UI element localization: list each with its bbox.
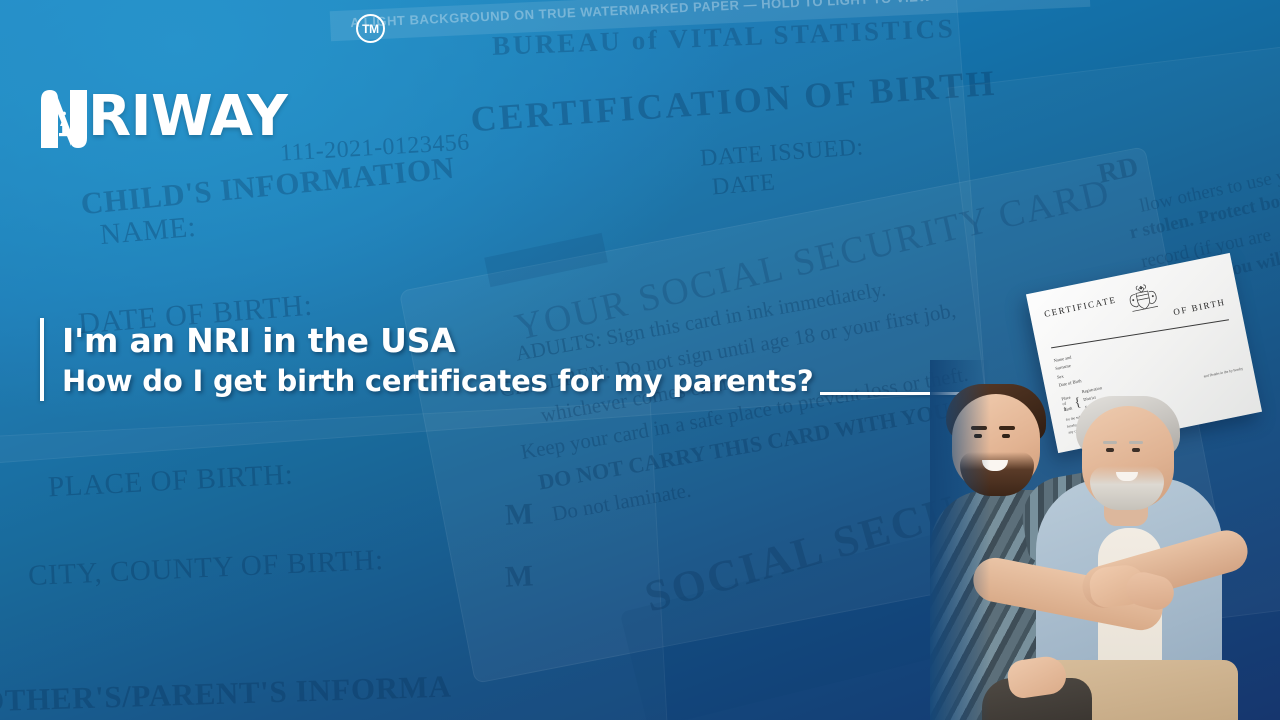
doc-date-issued: DATE ISSUED: (699, 134, 864, 172)
doc-right-text-1: RD (1095, 151, 1141, 191)
doc-m-mark-2: M (504, 559, 535, 594)
doc-m-mark-1: M (504, 497, 535, 532)
ssc-line-5: DO NOT CARRY THIS CARD WITH YOU. (514, 389, 977, 503)
doc-right-text-2: llow others to use your (1138, 160, 1280, 218)
headline-line-2: How do I get birth certificates for my p… (62, 361, 814, 401)
younger-man-eye-right (1002, 434, 1010, 438)
hero-headline: I'm an NRI in the USA How do I get birth… (40, 318, 970, 401)
doc-social-security-large: SOCIAL SECU (639, 484, 964, 622)
ssc-line-6: Do not laminate. (520, 423, 982, 536)
younger-man-brow-right (999, 426, 1015, 430)
headline-text-block: I'm an NRI in the USA How do I get birth… (62, 318, 970, 401)
nriway-n-monogram-icon (38, 88, 90, 150)
father-and-son-photo (930, 360, 1280, 720)
doc-certification-of-birth: CERTIFICATION OF BIRTH (469, 62, 998, 141)
trademark-icon: TM (356, 14, 385, 43)
certificate-title-left: CERTIFICATE (1043, 295, 1117, 319)
doc-mothers-parents-information: OTHER'S/PARENT'S INFORMA (0, 669, 452, 720)
ssc-chip-graphic (484, 233, 608, 287)
older-man-brow-left (1103, 441, 1117, 444)
headline-line-2-wrap: How do I get birth certificates for my p… (62, 361, 970, 401)
background-paper-lower-left (0, 401, 668, 720)
logo-wordmark: RIWAY (88, 88, 287, 146)
royal-coat-of-arms-icon (1124, 280, 1163, 316)
photo-left-fade (930, 360, 990, 720)
nriway-hero-banner: A LIGHT BACKGROUND ON TRUE WATERMARKED P… (0, 0, 1280, 720)
doc-date-line2: DATE (711, 170, 776, 202)
doc-city-county-of-birth: CITY, COUNTY OF BIRTH: (27, 544, 384, 593)
older-man-eye-left (1106, 448, 1114, 452)
headline-line-1: I'm an NRI in the USA (62, 320, 970, 361)
doc-place-of-birth: PLACE OF BIRTH: (47, 459, 294, 505)
doc-childs-information: CHILD'S INFORMATION (79, 150, 456, 222)
older-man-eye-right (1132, 448, 1140, 452)
doc-bureau-of-vital-statistics: BUREAU of VITAL STATISTICS (492, 13, 956, 62)
headline-accent-bar (40, 318, 44, 401)
certificate-title-right: OF BIRTH (1172, 297, 1226, 317)
security-band-text: A LIGHT BACKGROUND ON TRUE WATERMARKED P… (350, 0, 931, 30)
nriway-logo[interactable]: RIWAY (38, 88, 287, 150)
doc-name-label: NAME: (99, 211, 198, 252)
doc-right-text-3: r stolen. Protect both (1128, 188, 1280, 245)
security-band (330, 0, 1091, 41)
doc-certificate-number: 111-2021-0123456 (279, 129, 470, 167)
older-man-brow-right (1129, 441, 1143, 444)
